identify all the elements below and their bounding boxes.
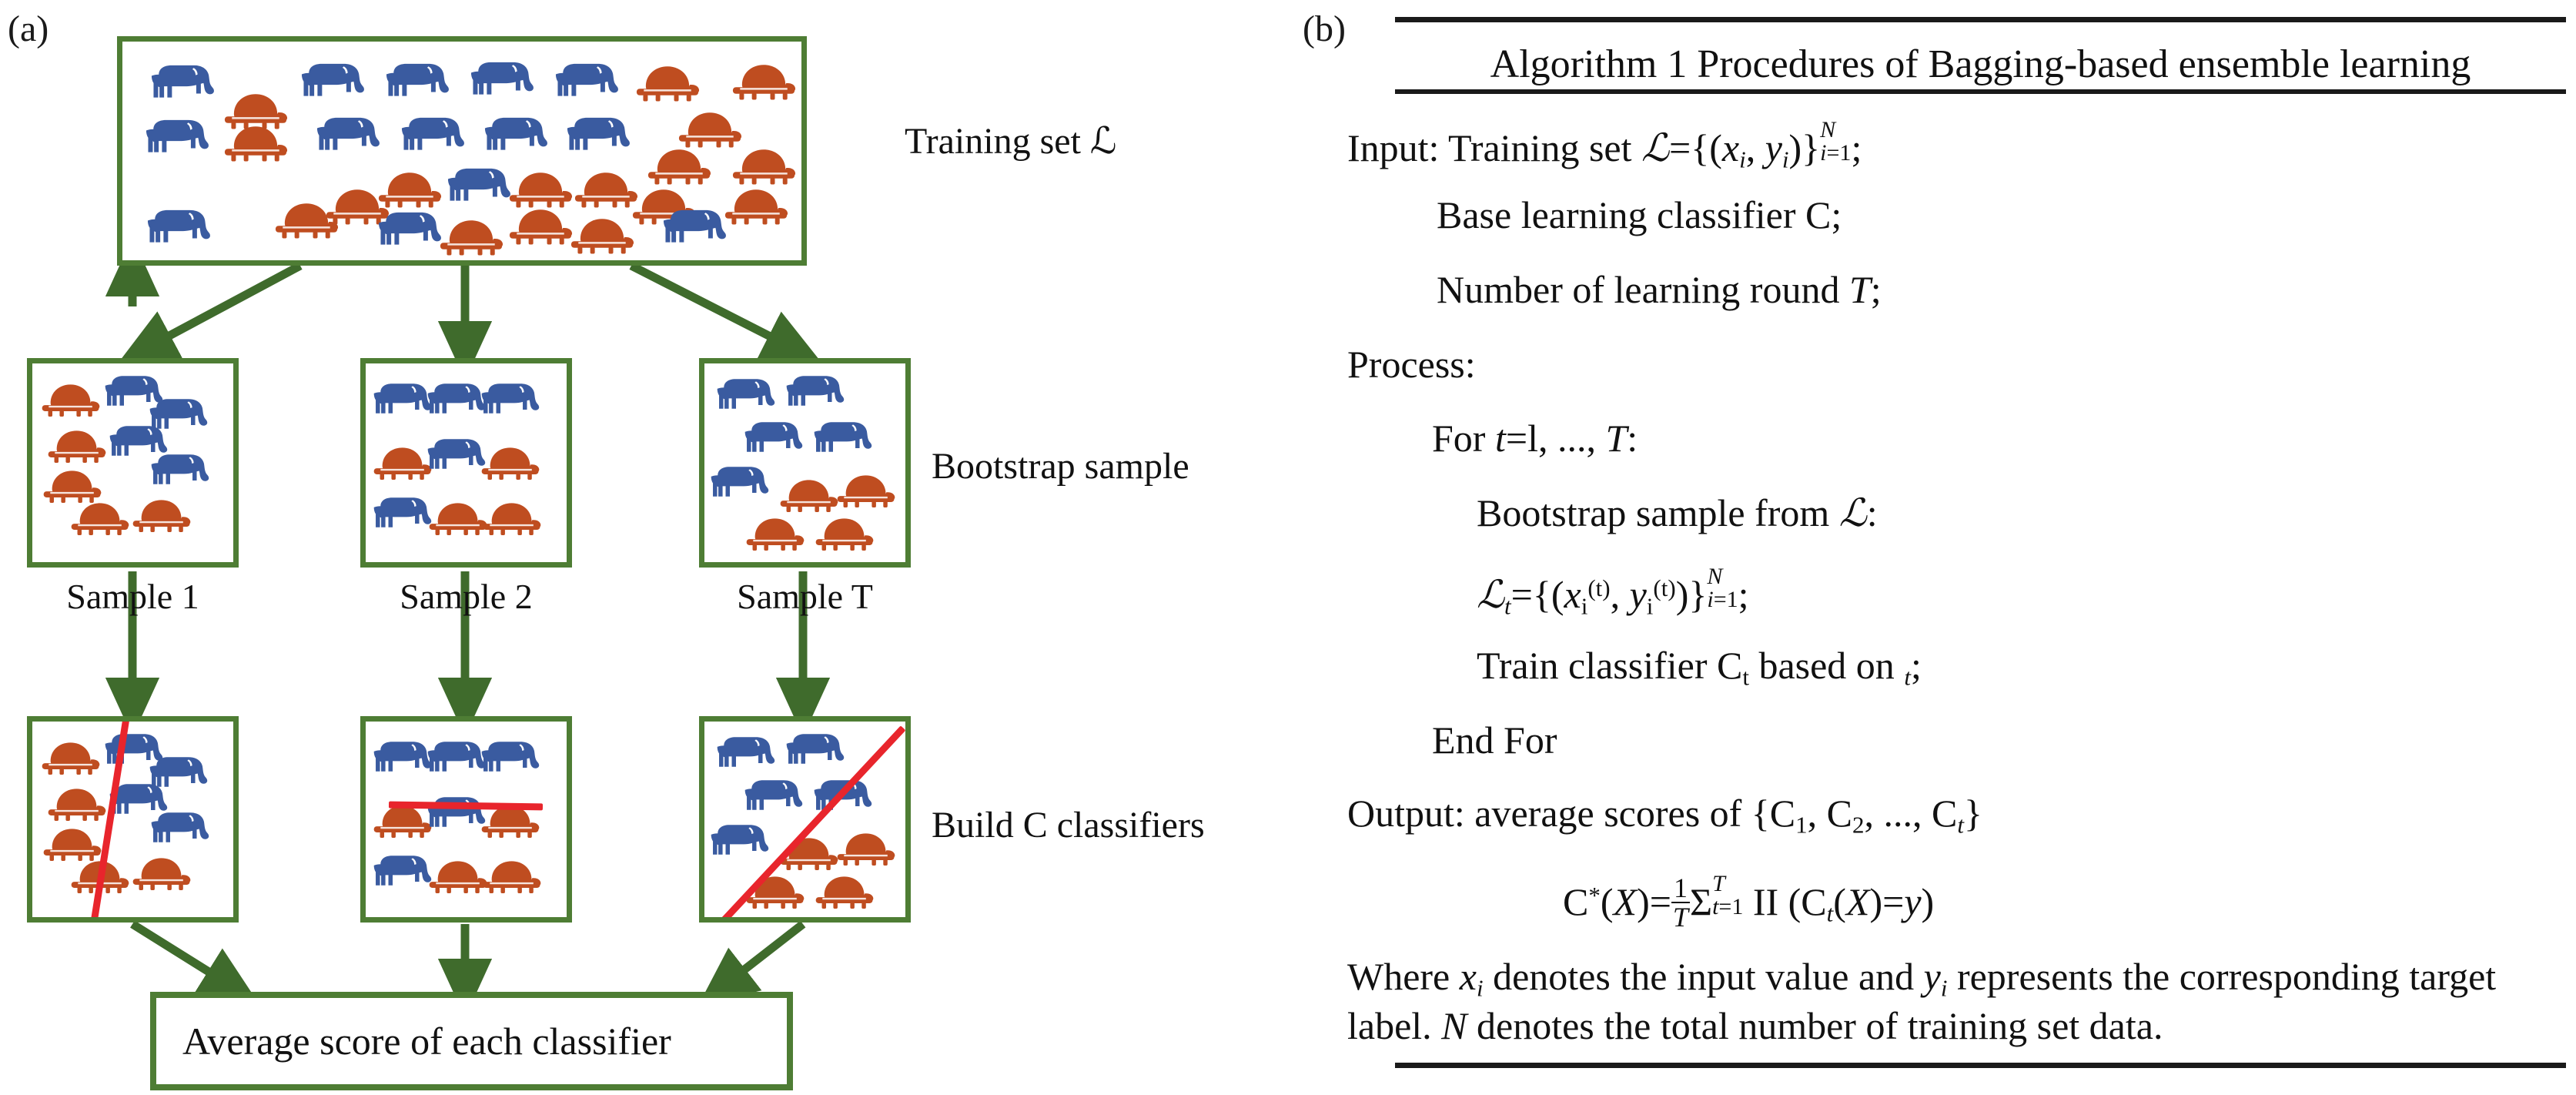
elephant-icon (426, 434, 487, 475)
sample-1-box (27, 358, 239, 568)
training-set-box (117, 36, 807, 266)
algorithm-line-lt-set: ℒt={(xi(t), yi(t))}Ni=1; (1477, 566, 1749, 620)
classifier-t-box (699, 716, 911, 923)
turtle-icon (731, 57, 797, 102)
elephant-icon (565, 112, 631, 157)
turtle-icon (744, 511, 805, 552)
elephant-icon (483, 112, 549, 157)
turtle-icon (481, 496, 542, 537)
algorithm-line-endfor: End For (1432, 720, 1557, 761)
turtle-icon (40, 735, 101, 776)
elephant-icon (715, 374, 776, 415)
elephant-icon (426, 792, 487, 833)
elephant-icon (372, 737, 433, 778)
elephant-icon (480, 737, 540, 778)
elephant-icon (709, 820, 770, 861)
elephant-icon (299, 59, 366, 103)
panel-b-algorithm: (b) Algorithm 1 Procedures of Bagging-ba… (1309, 0, 2576, 1095)
turtle-icon (481, 854, 542, 895)
elephant-icon (554, 59, 620, 103)
algorithm-line-rounds: Number of learning round T; (1437, 270, 1882, 310)
elephant-icon (785, 371, 845, 412)
average-score-box: Average score of each classifier (150, 992, 793, 1090)
elephant-icon (372, 493, 433, 534)
turtle-icon (131, 493, 192, 534)
sample-2-caption: Sample 2 (360, 579, 572, 614)
input-text: Input: Training set (1347, 126, 1641, 169)
elephant-icon (812, 417, 873, 458)
training-set-label: Training set ℒ (905, 123, 1116, 160)
elephant-icon (715, 732, 776, 773)
turtle-icon (723, 182, 789, 226)
elephant-icon (372, 379, 433, 420)
elephant-icon (376, 207, 443, 252)
algorithm-line-base-classifier: Base learning classifier C; (1437, 195, 1842, 236)
turtle-icon (646, 142, 712, 186)
panel-a-label: (a) (8, 11, 49, 48)
average-score-label: Average score of each classifier (182, 1019, 671, 1063)
elephant-icon (743, 775, 804, 816)
elephant-icon (709, 462, 770, 503)
turtle-icon (507, 202, 574, 246)
elephant-icon (149, 60, 216, 105)
elephant-icon (372, 851, 433, 892)
algorithm-line-bootstrap: Bootstrap sample from ℒ: (1477, 493, 1878, 534)
sample-t-caption: Sample T (699, 579, 911, 614)
turtle-icon (372, 440, 433, 481)
elephant-icon (149, 808, 210, 849)
elephant-icon (469, 57, 535, 102)
elephant-icon (426, 737, 487, 778)
sample-1-caption: Sample 1 (27, 579, 239, 614)
algorithm-rule-bottom (1395, 1063, 2566, 1068)
elephant-icon (144, 115, 210, 159)
turtle-icon (731, 142, 797, 186)
algorithm-paragraph-where: Where xi denotes the input value and yi … (1347, 953, 2525, 1050)
turtle-icon (569, 211, 635, 256)
algorithm-line-for: For t=l, ..., T: (1432, 418, 1638, 459)
turtle-icon (427, 854, 488, 895)
algorithm-rule-top (1395, 17, 2566, 22)
turtle-icon (835, 468, 896, 509)
turtle-icon (814, 511, 875, 552)
panel-b-label: (b) (1303, 11, 1346, 48)
turtle-icon (131, 851, 192, 892)
turtle-icon (273, 196, 340, 240)
algorithm-line-train: Train classifier Ct based on t; (1477, 645, 1922, 691)
elephant-icon (743, 417, 804, 458)
build-classifiers-label: Build C classifiers (932, 807, 1205, 844)
elephant-icon (384, 59, 450, 103)
turtle-icon (814, 869, 875, 910)
turtle-icon (40, 377, 101, 418)
turtle-icon (634, 59, 701, 103)
turtle-icon (778, 473, 839, 514)
turtle-icon (46, 782, 107, 822)
bootstrap-sample-label: Bootstrap sample (932, 448, 1189, 485)
elephant-icon (446, 163, 512, 208)
turtle-icon (427, 496, 488, 537)
elephant-icon (426, 379, 487, 420)
elephant-icon (146, 205, 212, 249)
elephant-icon (400, 112, 466, 157)
sample-2-box (360, 358, 572, 568)
panel-a-diagram: (a) Training set ℒ Sample 1 Sample 2 Sam… (0, 0, 1309, 1095)
turtle-icon (438, 213, 504, 257)
elephant-icon (480, 379, 540, 420)
algorithm-line-formula: C*(X)=1TΣTt=1 II (Ct(X)=y) (1563, 873, 1934, 931)
algorithm-line-output: Output: average scores of {C1, C2, ..., … (1347, 793, 1982, 839)
turtle-icon (69, 496, 130, 537)
turtle-icon (573, 165, 639, 209)
algorithm-line-input: Input: Training set ℒ={(xi, yi)}Ni=1; (1347, 119, 1862, 173)
sample-t-box (699, 358, 911, 568)
classifier-1-box (27, 716, 239, 923)
elephant-icon (149, 450, 210, 491)
algorithm-line-process: Process: (1347, 344, 1476, 385)
elephant-icon (661, 205, 728, 249)
turtle-icon (835, 826, 896, 867)
turtle-icon (46, 424, 107, 464)
algorithm-title: Algorithm 1 Procedures of Bagging-based … (1395, 45, 2566, 85)
algorithm-rule-mid (1395, 89, 2566, 94)
elephant-icon (315, 112, 381, 157)
elephant-icon (785, 729, 845, 770)
turtle-icon (222, 119, 289, 163)
classifier-2-box (360, 716, 572, 923)
turtle-icon (480, 440, 540, 481)
